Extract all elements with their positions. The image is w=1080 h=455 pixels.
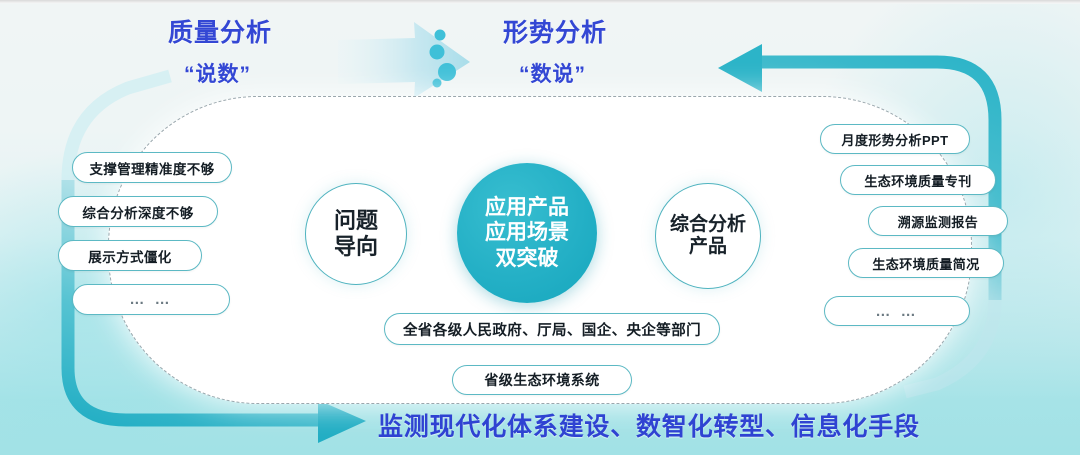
product-pill-5[interactable]: … … — [824, 296, 970, 326]
product-pill-2[interactable]: 生态环境质量专刊 — [840, 165, 996, 195]
circle-problem-oriented-label-line-1: 问题 — [334, 208, 378, 234]
circle-comprehensive-products-label-line-1: 综合分析 — [670, 214, 746, 236]
circle-core-line-1-line-3: 双突破 — [485, 246, 569, 272]
diagram-canvas: 质量分析 “说数” 形势分析 “数说” 支撑管理精准度不够 综合分析深度不够 展… — [0, 0, 1080, 455]
bottom-node-eco-system[interactable]: 省级生态环境系统 — [452, 365, 632, 395]
arrow-right-icon — [318, 400, 366, 443]
circle-core-line-1-line-2: 应用场景 — [485, 220, 569, 246]
circle-problem-oriented[interactable]: 问题导向 — [305, 183, 407, 285]
problem-pill-1[interactable]: 支撑管理精准度不够 — [72, 152, 232, 183]
heading-situation-quote: “数说” — [519, 58, 586, 88]
circle-problem-oriented-label-line-2: 导向 — [334, 234, 378, 260]
heading-situation-analysis: 形势分析 — [503, 13, 607, 49]
heading-quality-analysis: 质量分析 — [168, 13, 272, 49]
circle-comprehensive-products-label: 综合分析产品 — [670, 214, 746, 259]
arrow-dot — [433, 79, 442, 88]
product-pill-1[interactable]: 月度形势分析PPT — [820, 124, 970, 154]
problem-pill-3[interactable]: 展示方式僵化 — [58, 240, 202, 271]
circle-comprehensive-products[interactable]: 综合分析产品 — [655, 183, 761, 289]
arrow-dot — [438, 63, 456, 81]
product-pill-3[interactable]: 溯源监测报告 — [868, 206, 1008, 236]
circle-core-line-1-line-1: 应用产品 — [485, 195, 569, 221]
circle-core-breakthrough[interactable]: 应用产品应用场景双突破 — [457, 163, 597, 303]
problem-pill-2[interactable]: 综合分析深度不够 — [58, 196, 218, 227]
arrow-dot — [435, 30, 446, 41]
heading-quality-quote: “说数” — [184, 58, 251, 88]
arrow-dot — [430, 45, 445, 60]
dotted-arrow-right-icon — [338, 22, 470, 98]
footer-statement: 监测现代化体系建设、数智化转型、信息化手段 — [378, 407, 920, 443]
circle-core-line-1: 应用产品应用场景双突破 — [485, 195, 569, 272]
circle-comprehensive-products-label-line-2: 产品 — [670, 236, 746, 258]
arrow-left-icon — [718, 44, 762, 92]
circle-problem-oriented-label: 问题导向 — [334, 208, 378, 260]
problem-pill-4[interactable]: … … — [72, 284, 230, 315]
product-pill-4[interactable]: 生态环境质量简况 — [848, 248, 1004, 278]
bottom-node-government[interactable]: 全省各级人民政府、厅局、国企、央企等部门 — [384, 313, 720, 345]
